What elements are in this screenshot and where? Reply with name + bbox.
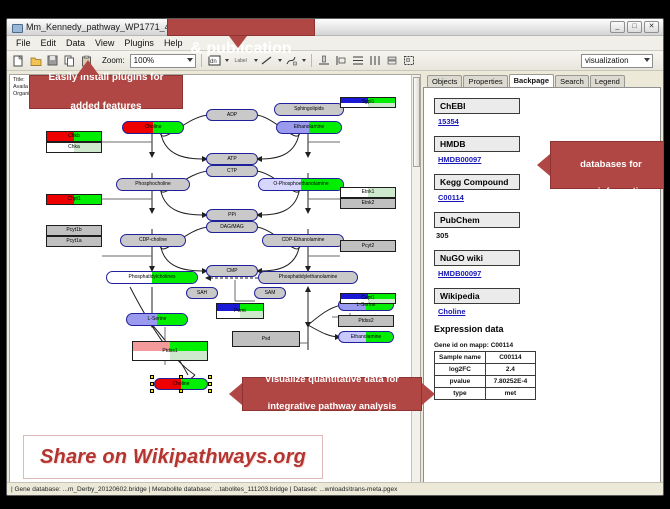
callout-links: Link to external databases for more info… xyxy=(550,141,664,189)
cell-key: type xyxy=(435,388,486,400)
pathway-canvas[interactable]: Title: Availa Organi xyxy=(9,74,421,495)
callout-share: Share on Wikipathways.org xyxy=(23,435,323,479)
node-label: SAH xyxy=(197,291,207,296)
node-label: Chkb xyxy=(68,134,80,139)
db-block-pubchem: PubChem 305 xyxy=(434,210,660,240)
callout-share-text: Share on Wikipathways.org xyxy=(40,446,306,469)
expression-table: Sample name C00114 log2FC 2.4 pvalue 7.8… xyxy=(434,351,536,400)
resize-handle-sw[interactable] xyxy=(150,389,154,393)
menu-item-view[interactable]: View xyxy=(90,37,119,49)
node-o-phosphoethanolamine: O-Phosphoethanolamine xyxy=(258,178,344,191)
table-row: log2FC 2.4 xyxy=(435,364,536,376)
new-file-icon[interactable] xyxy=(11,53,26,68)
node-label: Etnk1 xyxy=(362,190,375,195)
app-icon xyxy=(11,22,22,33)
node-label: Choline xyxy=(145,125,162,130)
node-label: Pcyt2 xyxy=(362,244,375,249)
node-label: Phosphatidylethanolamine xyxy=(279,275,338,280)
menu-item-plugins[interactable]: Plugins xyxy=(119,37,159,49)
node-phosphocholine: Phosphocholine xyxy=(116,178,190,191)
node-sam: SAM xyxy=(254,287,286,299)
node-ctp: CTP xyxy=(206,165,258,177)
node-ppi: PPi xyxy=(206,209,258,221)
callout-draw: Draw for presentation & publication xyxy=(167,18,315,36)
callout-links-line2: databases for xyxy=(566,157,656,174)
node-choline-top: Choline xyxy=(122,121,184,134)
tab-properties[interactable]: Properties xyxy=(463,75,507,87)
callout-draw-line1: Draw for presentation xyxy=(174,18,308,19)
callout-visualize-line2: integrative pathway analysis xyxy=(259,399,405,416)
close-button[interactable]: ✕ xyxy=(644,21,659,33)
callout-plugins: Easily install plugins for added feature… xyxy=(29,75,183,109)
db-block-wikipedia: Wikipedia Choline xyxy=(434,286,660,316)
callout-visualize-arrow-right-icon xyxy=(422,383,435,405)
db-name-pubchem: PubChem xyxy=(434,212,520,228)
side-pane-tabs: Objects Properties Backpage Search Legen… xyxy=(423,74,661,87)
menu-item-file[interactable]: File xyxy=(11,37,36,49)
node-phosphatidylethanolamine: Phosphatidylethanolamine xyxy=(258,271,358,284)
node-label: Ptdss1 xyxy=(162,349,177,354)
table-row: Sample name C00114 xyxy=(435,352,536,364)
node-etnk2[interactable]: Etnk2 xyxy=(340,198,396,209)
minimize-button[interactable]: _ xyxy=(610,21,625,33)
db-name-kegg: Kegg Compound xyxy=(434,174,520,190)
node-psd[interactable]: Psd xyxy=(232,331,300,347)
node-phosphatidylcholines: Phosphatidylcholines xyxy=(106,271,198,284)
resize-handle-se[interactable] xyxy=(208,389,212,393)
node-etnk1[interactable]: Etnk1 xyxy=(340,187,396,198)
node-label: Sphingolipids xyxy=(294,107,324,112)
node-label: Cept1 xyxy=(361,296,374,301)
db-block-chebi: ChEBI 15354 xyxy=(434,96,660,126)
pathvisio-window: Mm_Kennedy_pathway_WP1771_45176.gpml _ □… xyxy=(6,18,664,496)
cell-key: Sample name xyxy=(435,352,486,364)
node-label: CDP-choline xyxy=(139,238,167,243)
zoom-value: 100% xyxy=(134,56,154,65)
callout-links-line1: Link to external xyxy=(566,129,656,146)
tab-backpage[interactable]: Backpage xyxy=(509,74,554,87)
maximize-button[interactable]: □ xyxy=(627,21,642,33)
node-label: ADP xyxy=(227,113,237,118)
expression-data-title: Expression data xyxy=(434,324,660,334)
db-name-chebi: ChEBI xyxy=(434,98,520,114)
resize-handle-e[interactable] xyxy=(208,382,212,386)
cell-value: C00114 xyxy=(485,352,535,364)
tab-objects[interactable]: Objects xyxy=(427,75,462,87)
node-label: Ptdss2 xyxy=(358,319,373,324)
node-pcyt1a[interactable]: Pcyt1a xyxy=(46,236,102,247)
cell-key: log2FC xyxy=(435,364,486,376)
menu-item-data[interactable]: Data xyxy=(61,37,90,49)
resize-handle-w[interactable] xyxy=(150,382,154,386)
table-row: type met xyxy=(435,388,536,400)
node-label: Chka xyxy=(68,145,80,150)
cell-value: met xyxy=(485,388,535,400)
node-cmp: CMP xyxy=(206,265,258,277)
gene-id-line: Gene id on mapp: C00114 xyxy=(434,342,660,349)
distribute-horizontal-icon[interactable] xyxy=(368,53,383,68)
callout-visualize-line1: Visualize quantitative data for xyxy=(259,372,405,389)
node-chka[interactable]: Chka xyxy=(46,142,102,153)
resize-handle-s[interactable] xyxy=(179,389,183,393)
callout-links-arrow-icon xyxy=(537,154,550,176)
node-sphingolipids: Sphingolipids xyxy=(274,103,344,116)
node-label: Choline xyxy=(173,382,190,387)
node-label: Ethanolamine xyxy=(351,335,382,340)
table-row: pvalue 7.80252E-4 xyxy=(435,376,536,388)
status-text: | Gene database: ...m_Derby_20120602.bri… xyxy=(11,486,397,493)
callout-plugins-arrow-icon xyxy=(77,60,99,75)
callout-plugins-line2: added features xyxy=(42,98,169,116)
node-label: ATP xyxy=(227,157,236,162)
db-link-nugo[interactable]: HMDB00097 xyxy=(438,269,660,278)
node-dag-mag: DAG/MAG xyxy=(206,221,258,233)
node-ptdss2[interactable]: Ptdss2 xyxy=(338,315,394,327)
node-label: CDP-Ethanolamine xyxy=(282,238,325,243)
node-label: Chpt1 xyxy=(67,197,80,202)
db-value-pubchem: 305 xyxy=(436,231,660,240)
node-label: DAG/MAG xyxy=(220,225,244,230)
resize-handle-ne[interactable] xyxy=(208,375,212,379)
db-link-wikipedia[interactable]: Choline xyxy=(438,307,660,316)
node-pcyt1b[interactable]: Pcyt1b xyxy=(46,225,102,236)
node-pemt[interactable]: Pemt xyxy=(216,303,264,319)
node-label: L-Serine xyxy=(148,317,167,322)
callout-links-line3: more information xyxy=(566,184,656,201)
callout-plugins-line1: Easily install plugins for xyxy=(42,69,169,87)
node-cdp-ethanolamine: CDP-Ethanolamine xyxy=(262,234,344,247)
window-controls: _ □ ✕ xyxy=(610,21,659,33)
align-top-icon[interactable] xyxy=(317,53,332,68)
node-label: O-Phosphoethanolamine xyxy=(273,182,328,187)
cell-value: 2.4 xyxy=(485,364,535,376)
node-atp: ATP xyxy=(206,153,258,165)
node-label: L-Serine xyxy=(357,303,376,308)
visualization-value: visualization xyxy=(585,56,629,65)
tab-legend[interactable]: Legend xyxy=(590,75,625,87)
callout-visualize: Visualize quantitative data for integrat… xyxy=(242,377,422,411)
callout-visualize-arrow-left-icon xyxy=(229,383,242,405)
align-left-icon[interactable] xyxy=(334,53,349,68)
node-label: Etnk2 xyxy=(362,201,375,206)
menu-bar: File Edit Data View Plugins Help xyxy=(7,36,663,51)
visualization-combo[interactable]: visualization xyxy=(581,54,653,68)
node-label: Pcyt1b xyxy=(66,228,81,233)
node-cdp-choline: CDP-choline xyxy=(120,234,186,247)
node-label: Phosphocholine xyxy=(135,182,171,187)
db-name-nugo: NuGO wiki xyxy=(434,250,520,266)
db-link-chebi[interactable]: 15354 xyxy=(438,117,660,126)
cell-key: pvalue xyxy=(435,376,486,388)
cell-value: 7.80252E-4 xyxy=(485,376,535,388)
node-label: Pcyt1a xyxy=(66,239,81,244)
db-name-wikipedia: Wikipedia xyxy=(434,288,520,304)
node-label: Phosphatidylcholines xyxy=(129,275,176,280)
status-bar: | Gene database: ...m_Derby_20120602.bri… xyxy=(7,482,663,495)
node-adp: ADP xyxy=(206,109,258,121)
node-ethanolamine-top: Ethanolamine xyxy=(276,121,342,134)
selected-node-group[interactable]: Choline xyxy=(150,375,212,393)
menu-item-edit[interactable]: Edit xyxy=(36,37,62,49)
zoom-label: Zoom: xyxy=(102,56,125,65)
node-ethanolamine-bottom: Ethanolamine xyxy=(338,331,394,343)
node-label: Sgpl1 xyxy=(362,100,375,105)
node-sgpl1[interactable]: Sgpl1 xyxy=(340,97,396,108)
resize-handle-nw[interactable] xyxy=(150,375,154,379)
node-pcyt2[interactable]: Pcyt2 xyxy=(340,240,396,252)
title-bar: Mm_Kennedy_pathway_WP1771_45176.gpml _ □… xyxy=(7,19,663,36)
resize-handle-n[interactable] xyxy=(179,375,183,379)
callout-draw-arrow-icon xyxy=(229,36,247,48)
canvas-vscroll-thumb[interactable] xyxy=(413,77,420,167)
node-label: Pemt xyxy=(234,309,246,314)
tab-search[interactable]: Search xyxy=(555,75,589,87)
canvas-vscrollbar[interactable] xyxy=(411,75,420,494)
node-label: PPi xyxy=(228,213,236,218)
node-ptdss1[interactable]: Ptdss1 xyxy=(132,341,208,361)
node-chkb[interactable]: Chkb xyxy=(46,131,102,142)
node-label: CTP xyxy=(227,169,237,174)
distribute-vertical-icon[interactable] xyxy=(351,53,366,68)
node-sah: SAH xyxy=(186,287,218,299)
group-icon[interactable] xyxy=(402,53,417,68)
chevron-down-icon-2 xyxy=(644,58,650,62)
node-label: Psd xyxy=(262,337,271,342)
node-l-serine-left: L-Serine xyxy=(126,313,188,326)
db-name-hmdb: HMDB xyxy=(434,136,520,152)
node-label: CMP xyxy=(226,269,237,274)
node-label: SAM xyxy=(265,291,276,296)
stack-icon[interactable] xyxy=(385,53,400,68)
node-label: Ethanolamine xyxy=(294,125,325,130)
node-chpt1[interactable]: Chpt1 xyxy=(46,194,102,205)
db-block-nugo: NuGO wiki HMDB00097 xyxy=(434,248,660,278)
